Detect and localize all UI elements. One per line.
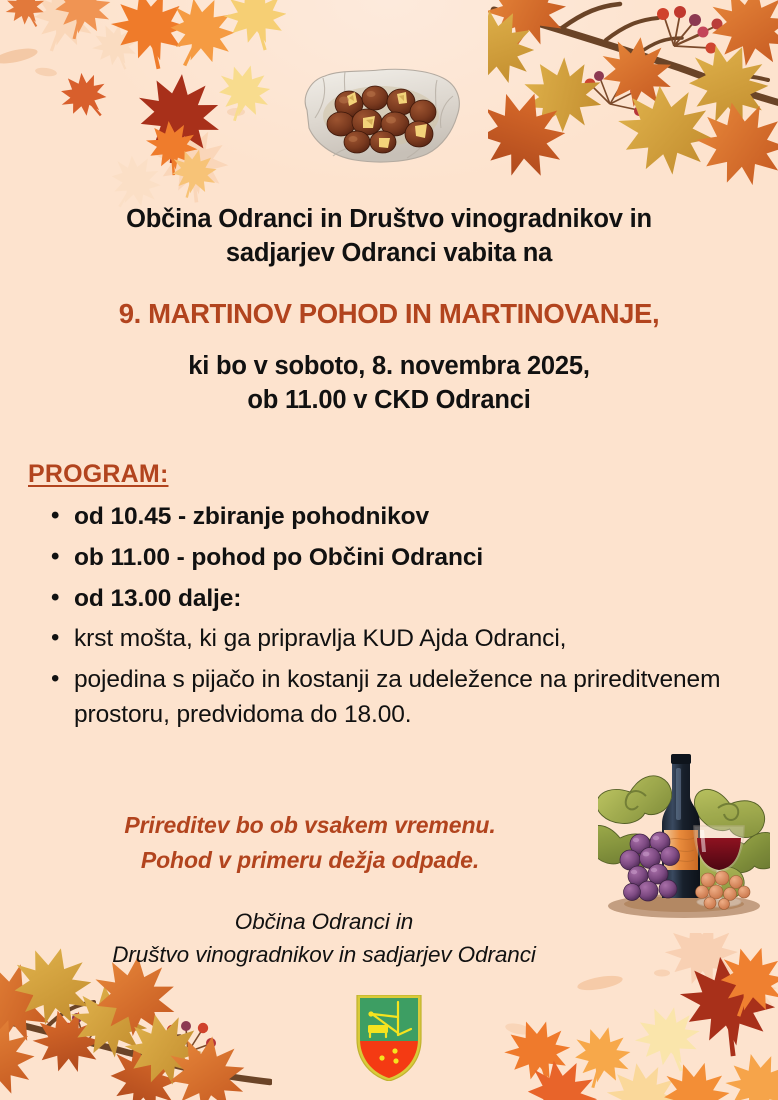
wine-and-grapes-illustration <box>598 752 770 920</box>
poster-canvas: Občina Odranci in Društvo vinogradnikov … <box>0 0 778 1100</box>
program-item: pojedina s pijačo in kostanji za udeleže… <box>46 663 738 733</box>
program-item: ob 11.00 - pohod po Občini Odranci <box>46 541 738 576</box>
program-item: krst mošta, ki ga pripravlja KUD Ajda Od… <box>46 622 738 657</box>
event-date-line: ki bo v soboto, 8. novembra 2025, <box>0 349 778 383</box>
weather-note: Prireditev bo ob vsakem vremenu. Pohod v… <box>30 808 590 877</box>
program-item: od 13.00 dalje: <box>46 582 738 617</box>
organizer-line-2: Društvo vinogradnikov in sadjarjev Odran… <box>14 938 634 971</box>
program-item: od 10.45 - zbiranje pohodnikov <box>46 500 738 535</box>
invitation-line-2: sadjarjev Odranci vabita na <box>0 237 778 271</box>
autumn-branch-top-right-icon <box>488 0 778 197</box>
weather-note-line-1: Prireditev bo ob vsakem vremenu. <box>30 808 590 843</box>
invitation-line-1: Občina Odranci in Društvo vinogradnikov … <box>0 203 778 237</box>
program-heading: PROGRAM: <box>28 460 168 489</box>
event-datetime-block: ki bo v soboto, 8. novembra 2025, ob 11.… <box>0 349 778 417</box>
organizer-signature: Občina Odranci in Društvo vinogradnikov … <box>14 905 634 971</box>
roasted-chestnuts-illustration <box>287 58 472 173</box>
event-title: 9. MARTINOV POHOD IN MARTINOVANJE, <box>0 298 778 330</box>
odranci-coat-of-arms-icon <box>355 995 423 1081</box>
autumn-leaves-top-left-icon <box>0 0 286 214</box>
weather-note-line-2: Pohod v primeru dežja odpade. <box>30 843 590 878</box>
organizer-line-1: Občina Odranci in <box>14 905 634 938</box>
program-list: od 10.45 - zbiranje pohodnikov ob 11.00 … <box>46 500 738 739</box>
invitation-block: Občina Odranci in Društvo vinogradnikov … <box>0 203 778 271</box>
event-time-venue-line: ob 11.00 v CKD Odranci <box>0 383 778 417</box>
